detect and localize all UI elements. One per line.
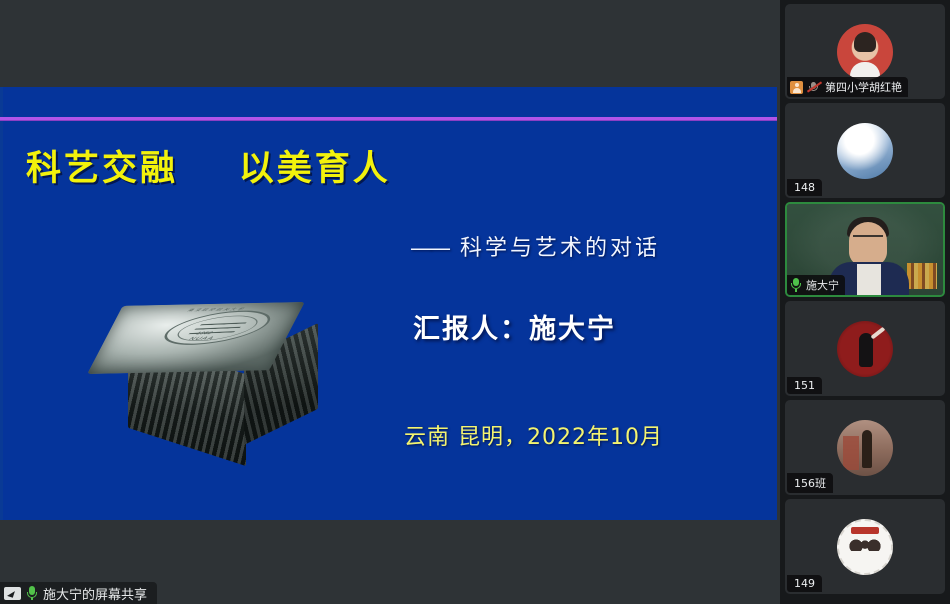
presentation-slide: 科艺交融 以美育人 ——科学与艺术的对话 南京航空航天大学 1952: [0, 87, 777, 520]
participant-badge: 149: [787, 575, 822, 592]
screen-share-banner: 施大宁的屏幕共享: [0, 582, 157, 604]
mic-muted-icon[interactable]: [807, 81, 821, 93]
participant-tile-active-speaker[interactable]: 施大宁: [785, 202, 945, 297]
participant-tile[interactable]: 148: [785, 103, 945, 198]
participant-name: 156班: [794, 475, 826, 491]
participant-panel[interactable]: 第四小学胡红艳 148 施: [780, 0, 950, 604]
glasses-icon: [853, 235, 883, 243]
slide-accent-rule: [0, 117, 777, 120]
mic-on-icon[interactable]: [790, 278, 802, 292]
bookshelf-icon: [907, 263, 937, 289]
participant-badge: 施大宁: [787, 275, 845, 295]
screen-share-label: 施大宁的屏幕共享: [43, 584, 147, 603]
participant-badge: 151: [787, 377, 822, 394]
participant-name: 148: [794, 181, 815, 194]
participant-name: 149: [794, 577, 815, 590]
participant-tile[interactable]: 151: [785, 301, 945, 396]
slide-presenter: 汇报人：施大宁: [413, 307, 616, 346]
participant-name: 151: [794, 379, 815, 392]
participant-name: 施大宁: [806, 277, 839, 293]
participant-badge: 148: [787, 179, 822, 196]
stone-block-image: 南京航空航天大学 1952 NUAA: [98, 277, 308, 467]
stone-top-face: 南京航空航天大学 1952 NUAA: [87, 302, 305, 374]
conference-window: 科艺交融 以美育人 ——科学与艺术的对话 南京航空航天大学 1952: [0, 0, 950, 604]
slide-title: 科艺交融 以美育人: [26, 140, 391, 191]
avatar: [837, 24, 893, 80]
participant-badge: 第四小学胡红艳: [787, 77, 908, 97]
avatar: [837, 321, 893, 377]
avatar-icon: [790, 81, 803, 94]
slide-subtitle: ——科学与艺术的对话: [330, 205, 660, 287]
slide-subtitle-dash: ——: [410, 236, 448, 261]
avatar: [837, 123, 893, 179]
slide-subtitle-text: 科学与艺术的对话: [460, 236, 660, 261]
participant-tile[interactable]: 156班: [785, 400, 945, 495]
avatar: [837, 420, 893, 476]
participant-tile[interactable]: 第四小学胡红艳: [785, 4, 945, 99]
participant-name: 第四小学胡红艳: [825, 79, 902, 95]
university-seal-icon: [147, 309, 287, 347]
mic-on-icon[interactable]: [27, 586, 37, 601]
avatar: [837, 519, 893, 575]
shared-screen-area[interactable]: 科艺交融 以美育人 ——科学与艺术的对话 南京航空航天大学 1952: [0, 0, 780, 604]
letterbox-top: [0, 0, 780, 87]
screenshare-icon: [4, 587, 21, 600]
participant-tile[interactable]: 149: [785, 499, 945, 594]
slide-place-date: 云南 昆明，2022年10月: [404, 419, 663, 451]
slide-edge-left: [0, 87, 3, 520]
participant-badge: 156班: [787, 473, 833, 493]
